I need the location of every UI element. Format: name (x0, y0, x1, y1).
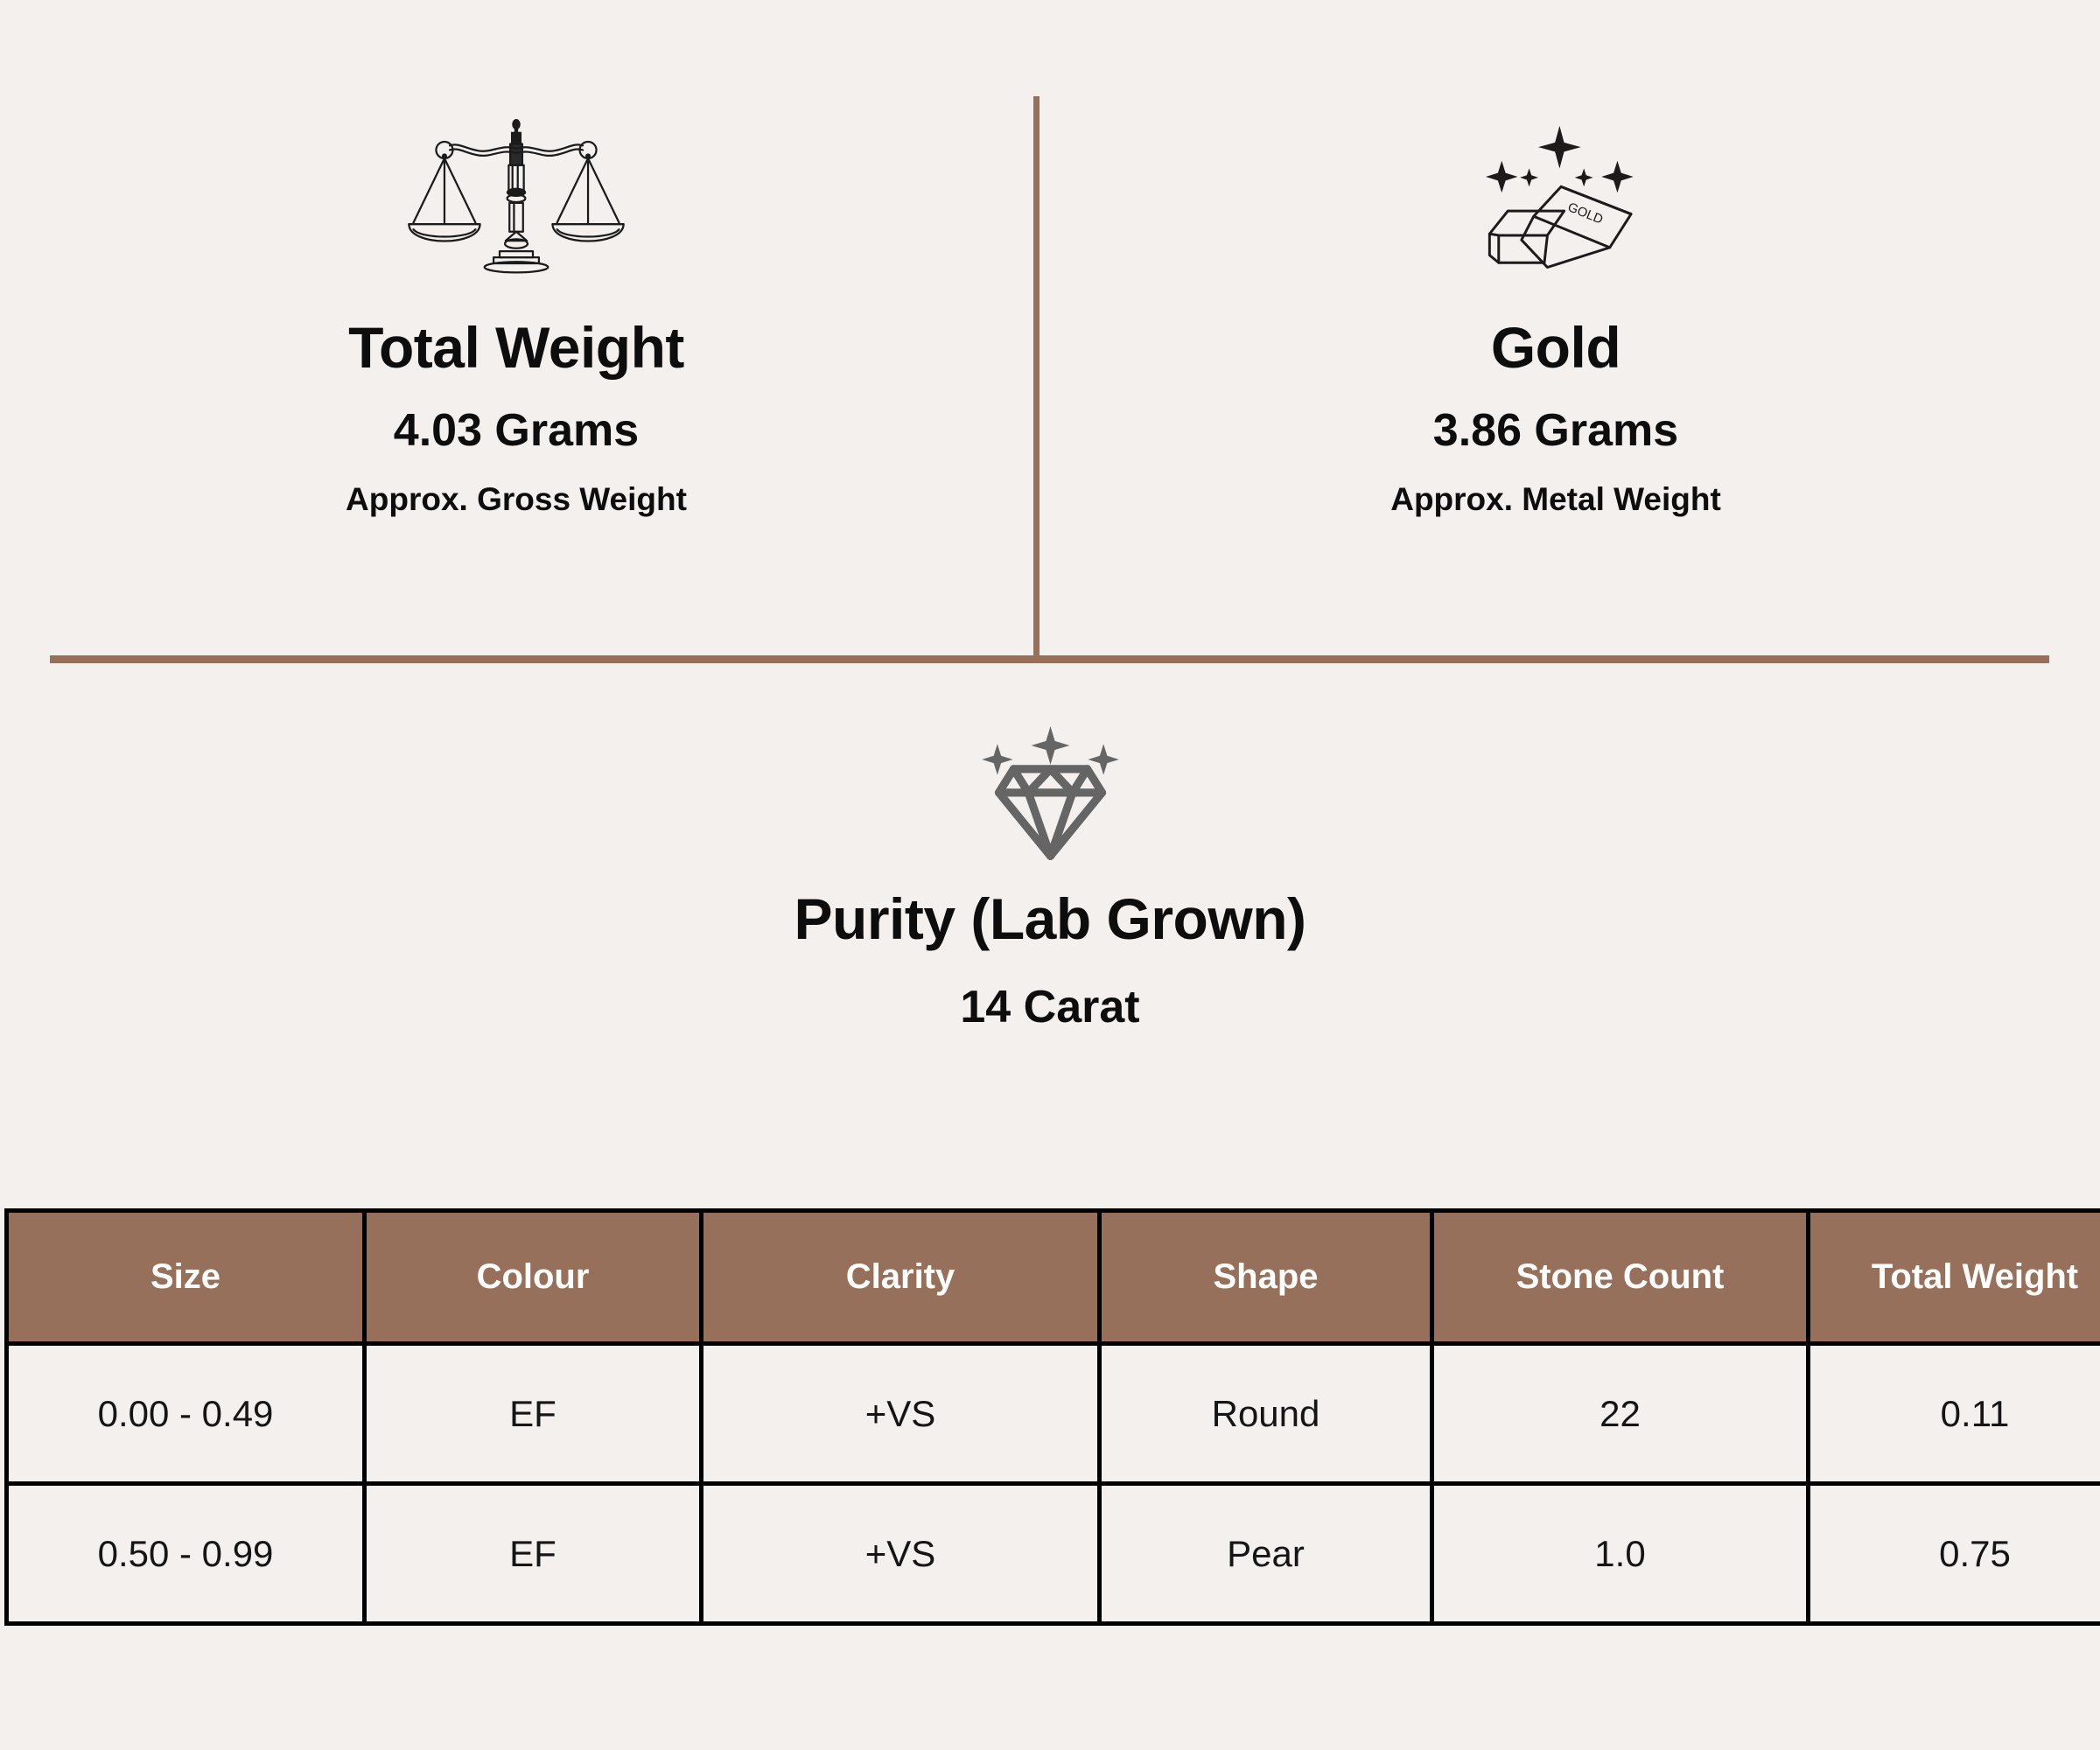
cell-total-weight: 0.11 (1809, 1344, 2100, 1484)
diamond-icon (974, 719, 1127, 864)
column-header-shape[interactable]: Shape (1100, 1211, 1432, 1344)
spec-value: 3.86 Grams (1433, 408, 1678, 453)
column-header-total-weight[interactable]: Total Weight (1809, 1211, 2100, 1344)
vertical-divider (1033, 96, 1039, 661)
column-header-size[interactable]: Size (7, 1211, 365, 1344)
spec-card-purity: Purity (Lab Grown) 14 Carat (0, 665, 2100, 1190)
column-header-stone-count[interactable]: Stone Count (1432, 1211, 1809, 1344)
stone-table-container: Size Colour Clarity Shape Stone Count To… (4, 1208, 2100, 1633)
cell-size: 0.00 - 0.49 (7, 1344, 365, 1484)
column-header-clarity[interactable]: Clarity (702, 1211, 1100, 1344)
table-row: 0.00 - 0.49 EF +VS Round 22 0.11 (7, 1344, 2100, 1484)
cell-stone-count: 22 (1432, 1344, 1809, 1484)
top-spec-region: Total Weight 4.03 Grams Approx. Gross We… (0, 0, 2100, 661)
gold-bars-icon: GOLD (1468, 0, 1643, 297)
cell-shape: Pear (1100, 1484, 1432, 1624)
spec-card-total-weight: Total Weight 4.03 Grams Approx. Gross We… (0, 0, 1032, 647)
cell-shape: Round (1100, 1344, 1432, 1484)
table-row: 0.50 - 0.99 EF +VS Pear 1.0 0.75 (7, 1484, 2100, 1624)
spec-title: Purity (Lab Grown) (794, 890, 1306, 948)
horizontal-divider (50, 655, 2049, 663)
cell-stone-count: 1.0 (1432, 1484, 1809, 1624)
spec-caption: Approx. Metal Weight (1390, 483, 1721, 515)
jewellery-spec-sheet: Total Weight 4.03 Grams Approx. Gross We… (0, 0, 2100, 1750)
cell-colour: EF (365, 1344, 702, 1484)
balance-scale-icon (402, 0, 630, 297)
cell-clarity: +VS (702, 1344, 1100, 1484)
spec-card-gold: GOLD Gold 3.86 Grams Approx. Metal Weigh… (1039, 0, 2072, 647)
spec-title: Total Weight (348, 318, 684, 376)
cell-clarity: +VS (702, 1484, 1100, 1624)
spec-value: 14 Carat (960, 984, 1139, 1030)
cell-colour: EF (365, 1484, 702, 1624)
spec-caption: Approx. Gross Weight (346, 483, 687, 515)
stone-details-table: Size Colour Clarity Shape Stone Count To… (4, 1208, 2100, 1626)
table-header-row: Size Colour Clarity Shape Stone Count To… (7, 1211, 2100, 1344)
column-header-colour[interactable]: Colour (365, 1211, 702, 1344)
cell-total-weight: 0.75 (1809, 1484, 2100, 1624)
svg-text:GOLD: GOLD (1565, 200, 1605, 227)
spec-title: Gold (1491, 318, 1620, 376)
cell-size: 0.50 - 0.99 (7, 1484, 365, 1624)
spec-value: 4.03 Grams (394, 408, 639, 453)
